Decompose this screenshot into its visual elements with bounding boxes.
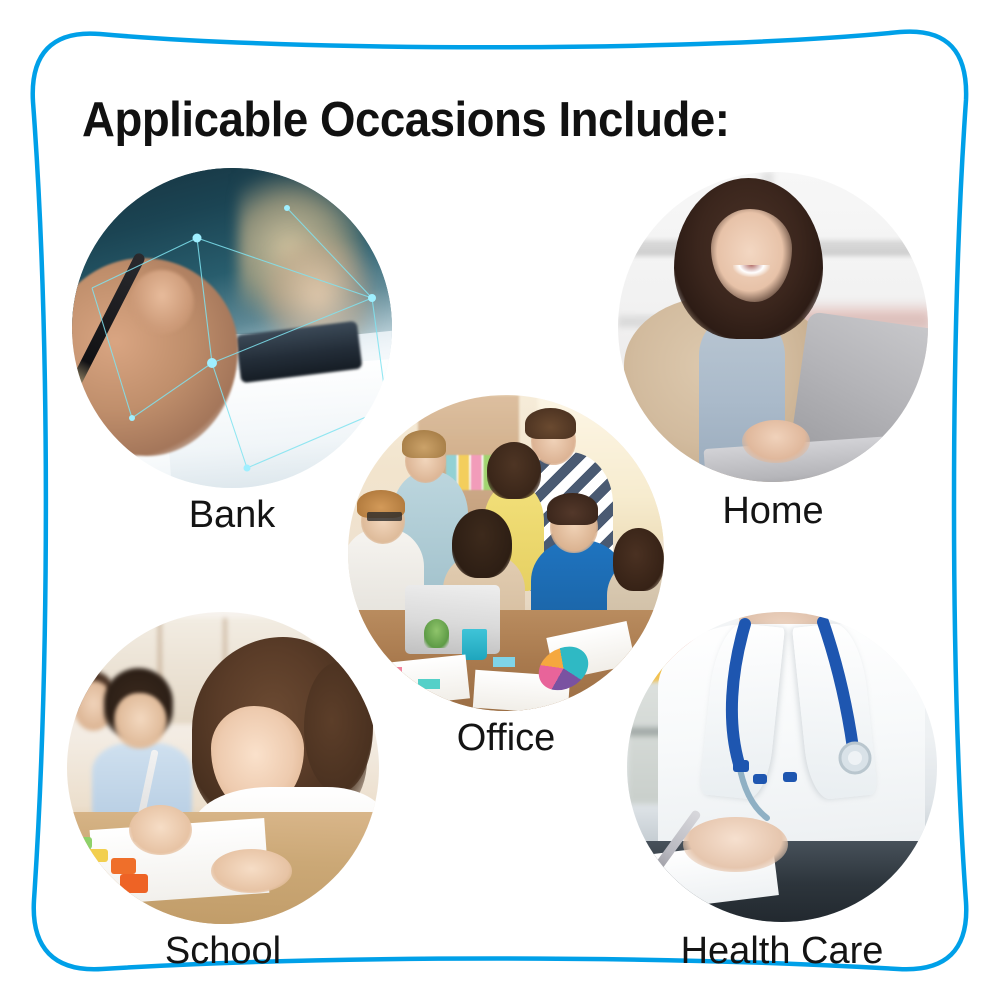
health-care-image: [627, 612, 937, 922]
occasion-label-school: School: [67, 930, 379, 973]
occasion-bank[interactable]: Bank: [72, 168, 392, 488]
office-image: [348, 395, 664, 711]
bank-image: [72, 168, 392, 488]
school-image: [67, 612, 379, 924]
occasion-label-home: Home: [618, 490, 928, 533]
occasion-home[interactable]: Home: [618, 172, 928, 482]
occasions-infographic: Applicable Occasions Include:: [0, 0, 1000, 1000]
occasion-label-health-care: Health Care: [627, 930, 937, 973]
home-image: [618, 172, 928, 482]
occasion-health-care[interactable]: Health Care: [627, 612, 937, 922]
page-title: Applicable Occasions Include:: [82, 92, 729, 148]
occasion-school[interactable]: School: [67, 612, 379, 924]
occasion-office[interactable]: Office: [348, 395, 664, 711]
occasion-label-office: Office: [348, 717, 664, 760]
occasion-label-bank: Bank: [72, 494, 392, 537]
